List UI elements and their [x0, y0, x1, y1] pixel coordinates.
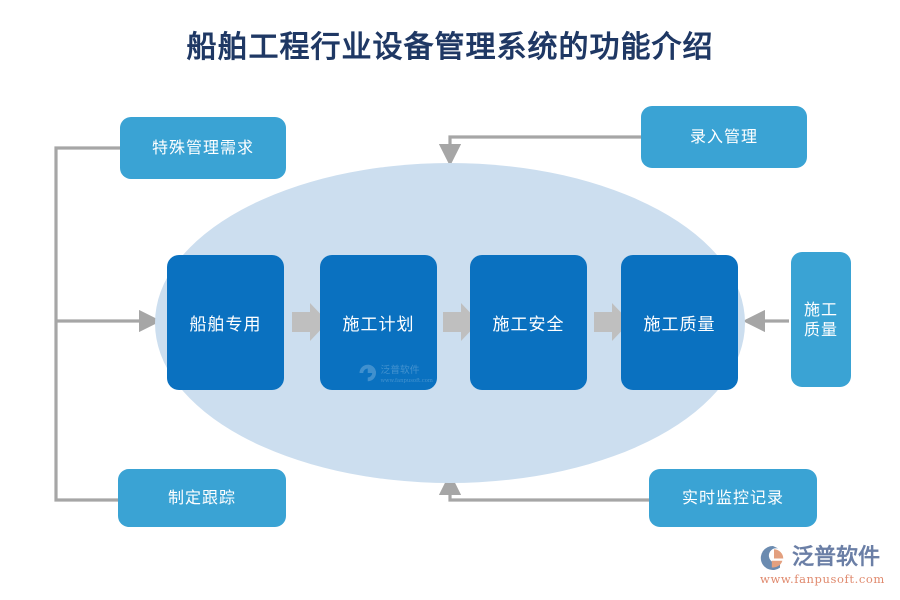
- process-box-2-label: 施工计划: [343, 310, 415, 335]
- process-box-2[interactable]: 施工计划: [320, 255, 437, 390]
- satellite-box-right-line2: 质量: [804, 320, 838, 339]
- satellite-box-bottom-right[interactable]: 实时监控记录: [649, 469, 817, 527]
- brand-logo-row: 泛普软件: [758, 544, 894, 572]
- process-box-1[interactable]: 船舶专用: [167, 255, 284, 390]
- process-box-4[interactable]: 施工质量: [621, 255, 738, 390]
- process-box-3-label: 施工安全: [493, 310, 565, 335]
- fanpu-logo-icon: [758, 544, 788, 572]
- satellite-box-top-right-label: 录入管理: [690, 127, 758, 147]
- diagram-canvas: 船舶工程行业设备管理系统的功能介绍: [0, 0, 900, 600]
- satellite-box-bottom-left-label: 制定跟踪: [168, 488, 236, 508]
- satellite-box-top-right[interactable]: 录入管理: [641, 106, 807, 168]
- brand-url: www.fanpusoft.com: [760, 574, 894, 586]
- brand-logo: 泛普软件 www.fanpusoft.com: [758, 544, 894, 590]
- satellite-box-right[interactable]: 施工 质量: [791, 252, 851, 387]
- satellite-box-bottom-left[interactable]: 制定跟踪: [118, 469, 286, 527]
- satellite-box-right-label: 施工 质量: [804, 300, 838, 340]
- brand-name: 泛普软件: [792, 547, 880, 569]
- satellite-box-bottom-right-label: 实时监控记录: [682, 488, 784, 508]
- process-box-3[interactable]: 施工安全: [470, 255, 587, 390]
- satellite-box-top-left[interactable]: 特殊管理需求: [120, 117, 286, 179]
- satellite-box-top-left-label: 特殊管理需求: [152, 138, 254, 158]
- process-box-4-label: 施工质量: [644, 310, 716, 335]
- process-box-1-label: 船舶专用: [190, 310, 262, 335]
- satellite-box-right-line1: 施工: [804, 300, 838, 319]
